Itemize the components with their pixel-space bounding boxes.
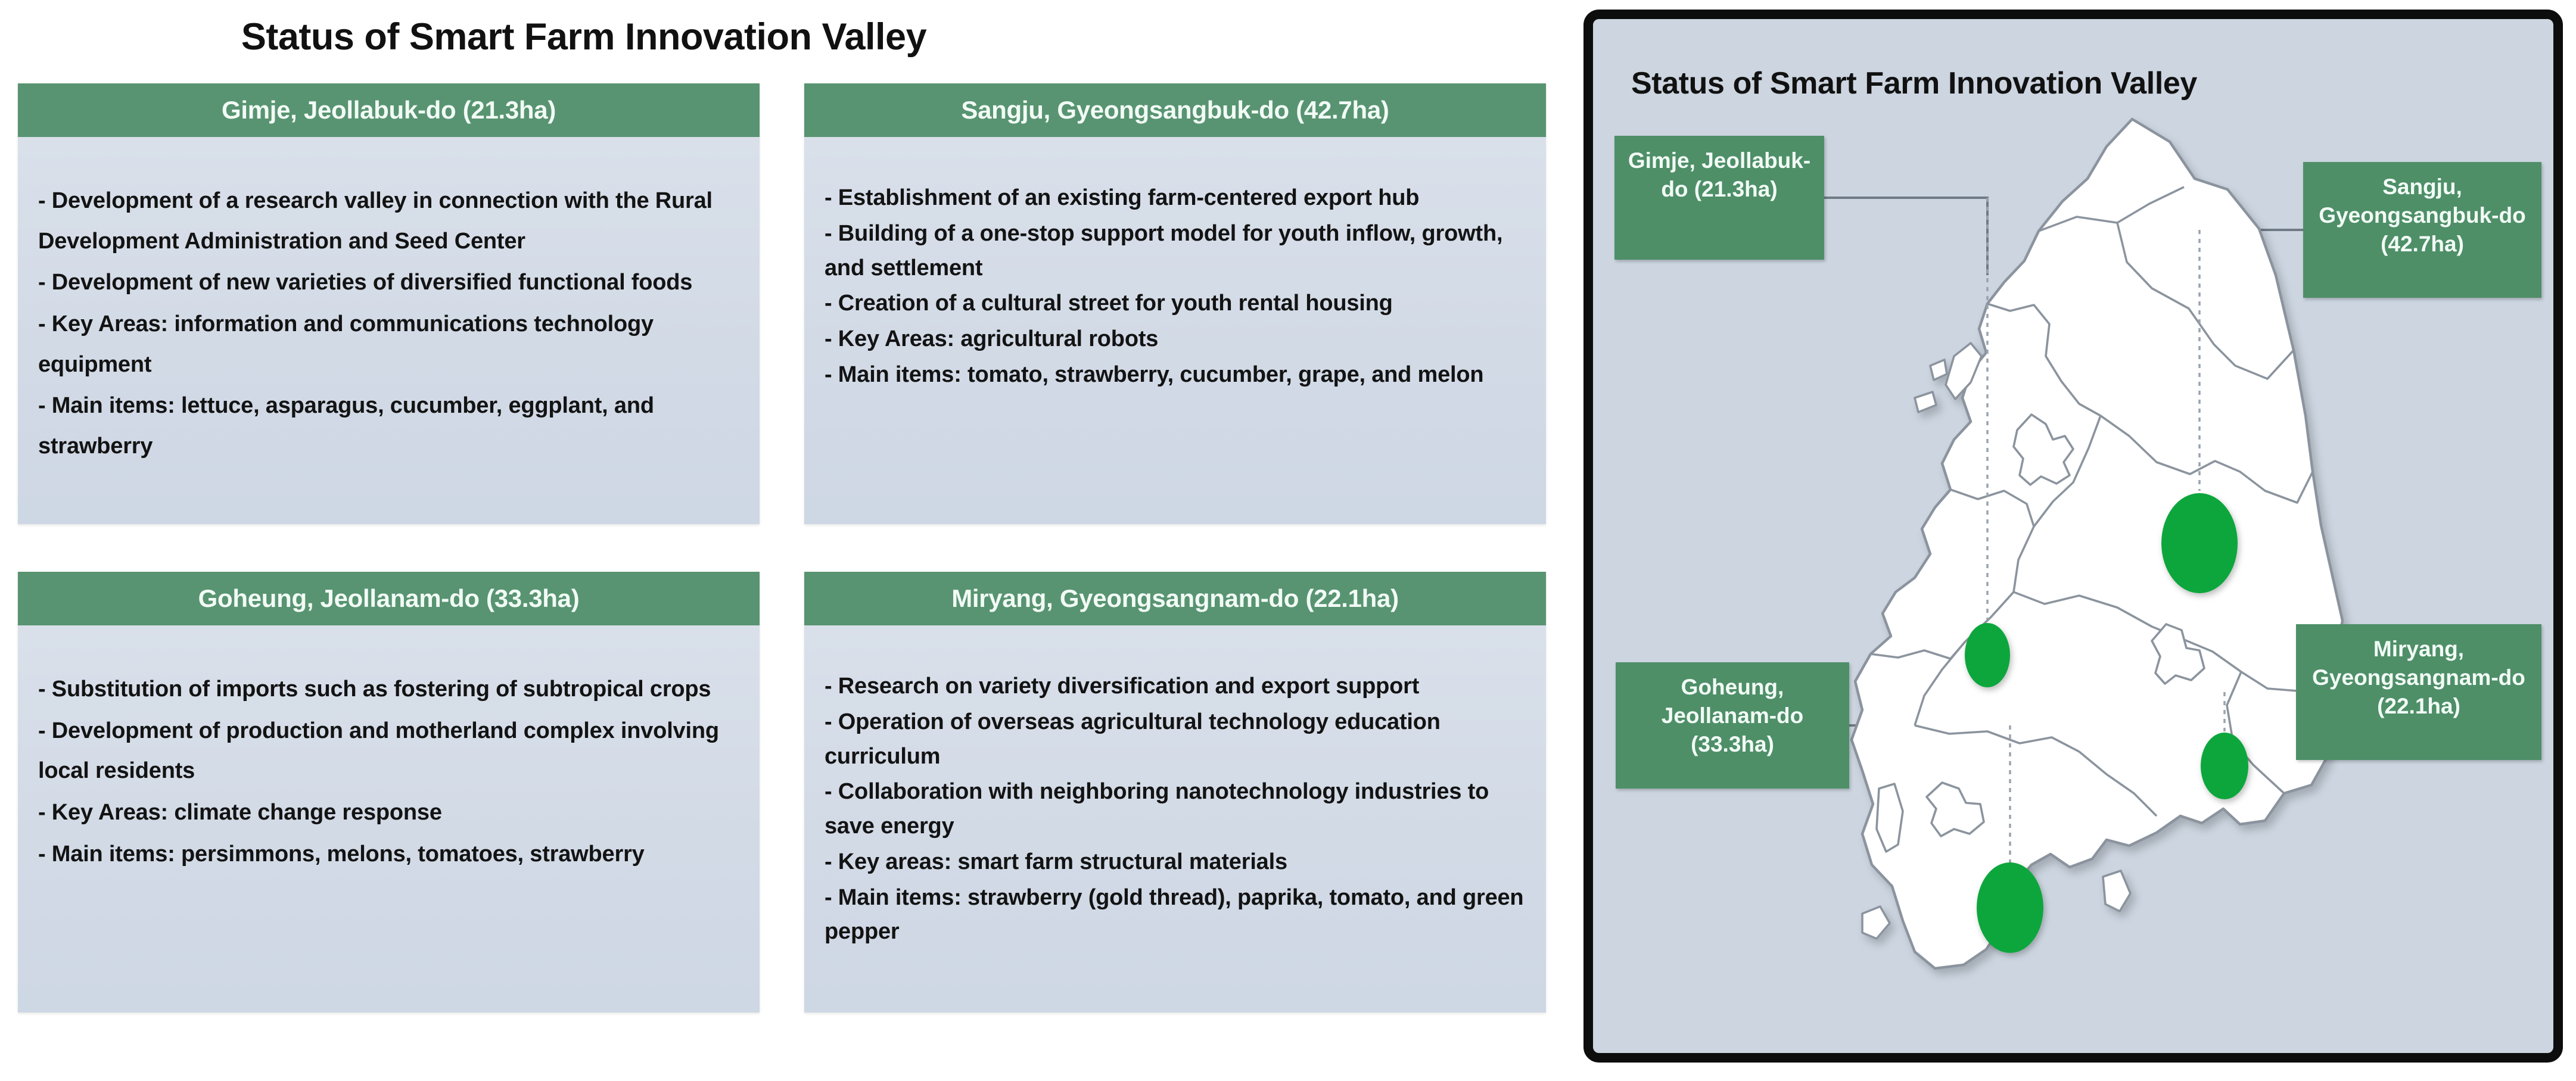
bullet-item: - Building of a one-stop support model f… <box>825 217 1526 286</box>
card-header-miryang: Miryang, Gyeongsangnam-do (22.1ha) <box>804 572 1546 625</box>
korea-landmass <box>1852 119 2342 968</box>
bullet-item: - Development of a research valley in co… <box>38 181 739 261</box>
map-label-sangju[interactable]: Sangju, Gyeongsangbuk-do (42.7ha) <box>2303 162 2541 298</box>
card-gimje: Gimje, Jeollabuk-do (21.3ha) - Developme… <box>18 83 760 524</box>
map-panel: Status of Smart Farm Innovation Valley G… <box>1583 10 2563 1063</box>
bullet-item: - Key Areas: information and communicati… <box>38 304 739 385</box>
card-body-gimje: - Development of a research valley in co… <box>18 137 760 524</box>
bullet-item: - Main items: strawberry (gold thread), … <box>825 881 1526 950</box>
bullet-item: - Collaboration with neighboring nanotec… <box>825 775 1526 844</box>
map-title: Status of Smart Farm Innovation Valley <box>1631 66 2197 101</box>
marker-goheung <box>1977 862 2043 953</box>
bullet-item: - Operation of overseas agricultural tec… <box>825 705 1526 774</box>
card-sangju: Sangju, Gyeongsangbuk-do (42.7ha) - Esta… <box>804 83 1546 524</box>
bullet-item: - Development of production and motherla… <box>38 711 739 792</box>
card-body-goheung: - Substitution of imports such as foster… <box>18 625 760 1013</box>
card-miryang: Miryang, Gyeongsangnam-do (22.1ha) - Res… <box>804 572 1546 1013</box>
card-header-goheung: Goheung, Jeollanam-do (33.3ha) <box>18 572 760 625</box>
bullet-item: - Key Areas: climate change response <box>38 793 739 833</box>
marker-sangju <box>2161 493 2238 593</box>
marker-miryang <box>2201 733 2248 799</box>
bullet-item: - Key Areas: agricultural robots <box>825 322 1526 357</box>
bullet-item: - Substitution of imports such as foster… <box>38 669 739 710</box>
bullet-item: - Development of new varieties of divers… <box>38 263 739 303</box>
card-header-gimje: Gimje, Jeollabuk-do (21.3ha) <box>18 83 760 137</box>
bullet-item: - Main items: lettuce, asparagus, cucumb… <box>38 386 739 466</box>
marker-gimje <box>1965 623 2010 687</box>
map-label-miryang[interactable]: Miryang, Gyeongsangnam-do (22.1ha) <box>2296 624 2541 760</box>
bullet-item: - Creation of a cultural street for yout… <box>825 286 1526 321</box>
card-body-sangju: - Establishment of an existing farm-cent… <box>804 137 1546 524</box>
page-title: Status of Smart Farm Innovation Valley <box>0 15 1168 58</box>
infographic-root: Status of Smart Farm Innovation Valley G… <box>0 0 2576 1081</box>
bullet-item: - Key areas: smart farm structural mater… <box>825 845 1526 880</box>
map-label-goheung[interactable]: Goheung, Jeollanam-do (33.3ha) <box>1616 662 1849 789</box>
bullet-item: - Establishment of an existing farm-cent… <box>825 181 1526 216</box>
cards-panel: Status of Smart Farm Innovation Valley G… <box>0 0 1573 1081</box>
bullet-item: - Main items: persimmons, melons, tomato… <box>38 834 739 875</box>
bullet-item: - Research on variety diversification an… <box>825 669 1526 704</box>
bullet-item: - Main items: tomato, strawberry, cucumb… <box>825 358 1526 392</box>
card-header-sangju: Sangju, Gyeongsangbuk-do (42.7ha) <box>804 83 1546 137</box>
map-label-gimje[interactable]: Gimje, Jeollabuk-do (21.3ha) <box>1614 136 1824 260</box>
card-goheung: Goheung, Jeollanam-do (33.3ha) - Substit… <box>18 572 760 1013</box>
card-body-miryang: - Research on variety diversification an… <box>804 625 1546 1013</box>
